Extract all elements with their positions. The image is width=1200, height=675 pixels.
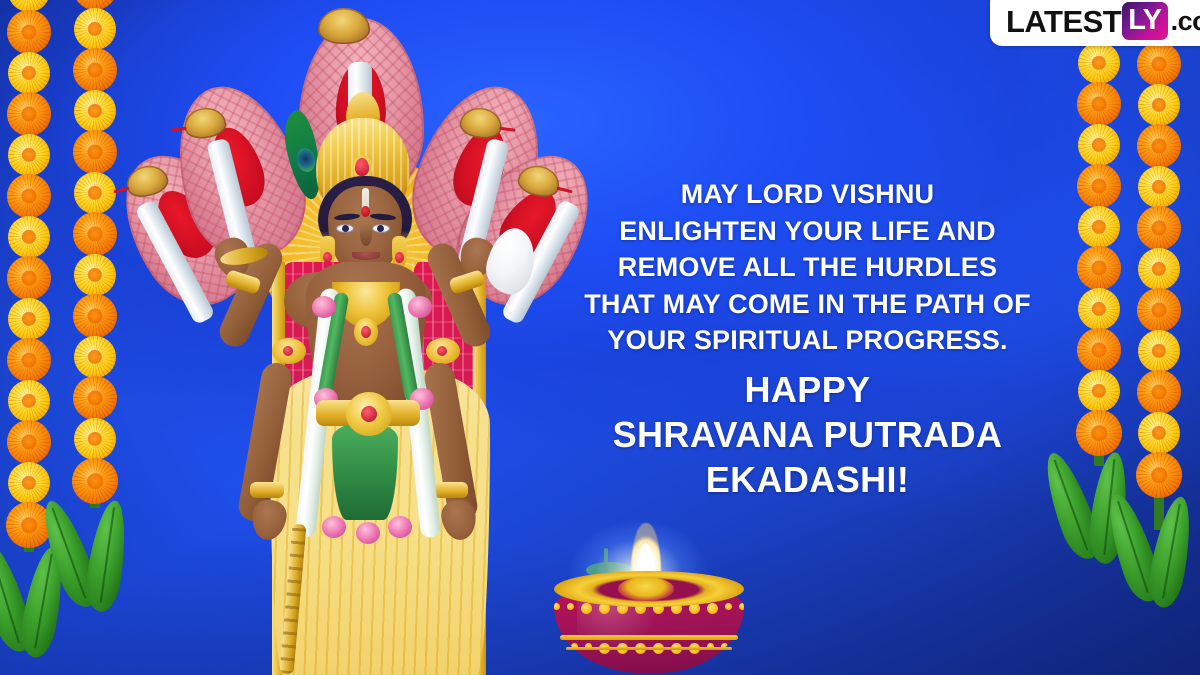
marigold-flower [8, 462, 50, 504]
message-line: THAT MAY COME IN THE PATH OF [575, 286, 1040, 323]
necklace-pendant [354, 318, 378, 346]
cobra-head [318, 8, 370, 44]
marigold-flower [73, 376, 117, 420]
message-line: REMOVE ALL THE HURDLES [575, 249, 1040, 286]
message-line: YOUR SPIRITUAL PROGRESS. [575, 322, 1040, 359]
garland-rose [356, 522, 380, 544]
marigold-flower [7, 256, 51, 300]
marigold-garland-left-inner [66, 0, 124, 670]
tilak-dot [361, 206, 370, 217]
message-line: MAY LORD VISHNU [575, 176, 1040, 213]
garland-rose [312, 296, 336, 318]
marigold-flower [74, 418, 116, 460]
marigold-flower [1137, 124, 1181, 168]
bangle-lower-left [250, 482, 284, 498]
marigold-garland-right-outer [1130, 40, 1188, 675]
eye-right [372, 224, 390, 233]
marigold-flower [8, 216, 50, 258]
marigold-flower [1077, 164, 1121, 208]
marigold-flower [7, 92, 51, 136]
marigold-flower [74, 254, 116, 296]
marigold-flower [1077, 328, 1121, 372]
marigold-flower [8, 380, 50, 422]
diya-gold-band-thin [566, 647, 732, 650]
marigold-flower [1077, 82, 1121, 126]
marigold-flower [1078, 42, 1120, 84]
greeting-card-canvas: MAY LORD VISHNU ENLIGHTEN YOUR LIFE AND … [0, 0, 1200, 675]
marigold-flower [8, 52, 50, 94]
marigold-garland-left-outer [0, 0, 58, 675]
marigold-flower [1138, 248, 1180, 290]
marigold-flower [8, 298, 50, 340]
marigold-flower [1078, 288, 1120, 330]
headline-line: SHRAVANA PUTRADA [575, 412, 1040, 457]
latestly-logo[interactable]: LATEST LY .com [990, 0, 1200, 46]
greeting-text-block: MAY LORD VISHNU ENLIGHTEN YOUR LIFE AND … [575, 176, 1040, 502]
garland-rose [322, 516, 346, 538]
armlet-left [272, 338, 306, 364]
marigold-flower [1137, 288, 1181, 332]
diya-gold-band [560, 635, 738, 640]
marigold-flower [7, 338, 51, 382]
nose [360, 224, 372, 246]
marigold-flower [74, 8, 116, 50]
marigold-flower [7, 10, 51, 54]
bangle-lower-right [434, 482, 468, 498]
marigold-flower [1137, 206, 1181, 250]
logo-text-com: .com [1171, 8, 1200, 35]
message-line: ENLIGHTEN YOUR LIFE AND [575, 213, 1040, 250]
garland-rose [388, 516, 412, 538]
garland-rose [408, 296, 432, 318]
marigold-flower [1138, 84, 1180, 126]
crown-gem [355, 158, 369, 176]
marigold-flower [1078, 124, 1120, 166]
marigold-garland-right-inner [1070, 36, 1128, 675]
marigold-flower [74, 90, 116, 132]
mango-leaf-pair [1124, 492, 1194, 612]
marigold-flower [1138, 166, 1180, 208]
mouth [352, 252, 380, 260]
marigold-flower [1078, 206, 1120, 248]
marigold-flower [74, 336, 116, 378]
eye-left [336, 224, 354, 233]
mango-leaf [1145, 494, 1198, 610]
marigold-flower [1137, 370, 1181, 414]
marigold-flower [73, 294, 117, 338]
headline-block: HAPPY SHRAVANA PUTRADA EKADASHI! [575, 367, 1040, 502]
marigold-flower [1138, 330, 1180, 372]
diya-oil-lamp [540, 495, 760, 675]
lord-vishnu-illustration [120, 0, 590, 675]
marigold-flower [73, 212, 117, 256]
green-sash [332, 424, 398, 520]
marigold-flower [1137, 42, 1181, 86]
diya-wick-notch [618, 577, 674, 601]
marigold-flower [1078, 370, 1120, 412]
logo-text-latest: LATEST [1006, 6, 1121, 37]
marigold-flower [1077, 246, 1121, 290]
logo-wordmark: LATEST LY .com [1006, 2, 1200, 40]
belt-brooch [346, 392, 392, 436]
logo-badge-ly: LY [1122, 2, 1167, 40]
marigold-flower [73, 48, 117, 92]
marigold-flower [7, 420, 51, 464]
marigold-flower [1138, 412, 1180, 454]
marigold-flower [73, 130, 117, 174]
armlet-right [426, 338, 460, 364]
marigold-flower [7, 174, 51, 218]
marigold-flower [8, 134, 50, 176]
headline-line: HAPPY [575, 367, 1040, 412]
